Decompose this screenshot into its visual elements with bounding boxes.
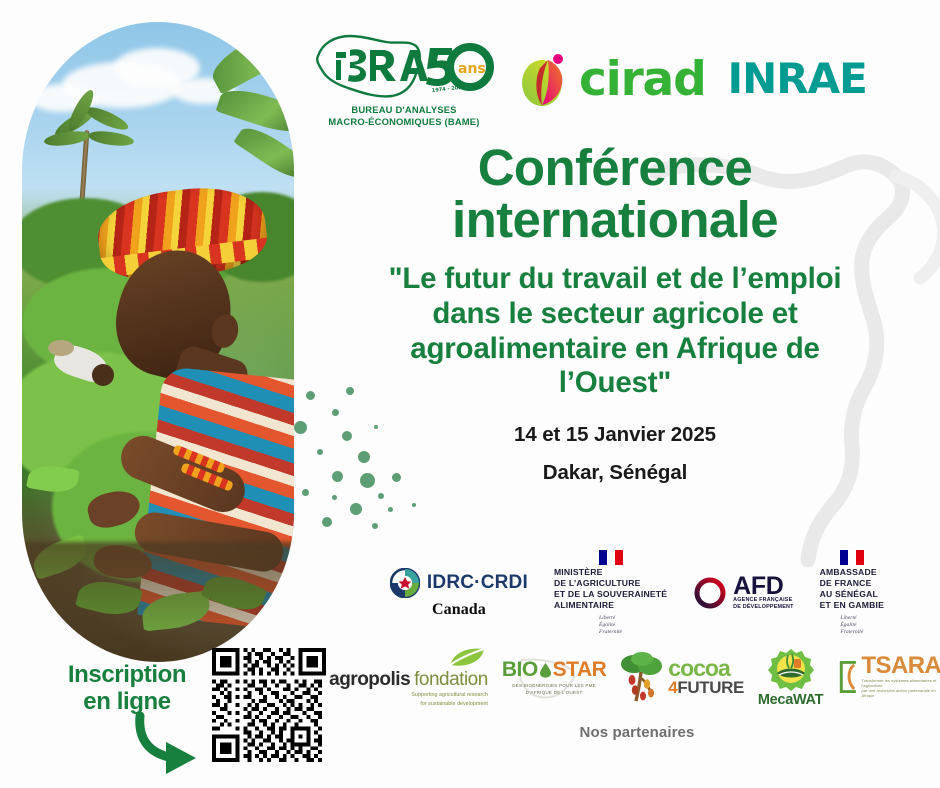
svg-text:ans: ans (458, 61, 486, 77)
ministere-line3: ET DE LA SOUVERAINETÉ (554, 589, 667, 600)
cirad-seed-icon (518, 50, 572, 108)
devise2-liberte: Liberté (840, 615, 863, 622)
tsara-bracket-icon (837, 657, 859, 697)
french-flag-icon-2 (840, 550, 864, 565)
partners-row-1: IDRC·CRDI Canada MINISTÈRE DE L’AGRICULT… (340, 552, 934, 634)
cirad-wordmark: cirad (579, 56, 706, 103)
cocoa-word3: FUTURE (677, 678, 744, 697)
registration-label: Inscription en ligne (34, 662, 220, 716)
afd-sub2: DE DÉVELOPPEMENT (733, 604, 793, 611)
isra-line2: MACRO-ÉCONOMIQUES (BAME) (328, 116, 479, 128)
subtitle-line-3: agroalimentaire en Afrique de (410, 332, 820, 365)
ambassade-devise: Liberté Égalité Fraternité (840, 615, 863, 637)
background-farmer (48, 334, 118, 386)
ambassade-line1: AMBASSADE (820, 567, 884, 578)
biostar-word2: STAR (553, 658, 607, 682)
cocoa-word2: 4 (668, 678, 677, 697)
logo-biostar: BIO STAR DES BIOÉNERGIES POUR LES PME D’… (502, 658, 606, 696)
curved-arrow-icon (130, 712, 222, 774)
event-date: 14 et 15 Janvier 2025 (300, 423, 930, 447)
hero-photo (22, 22, 294, 662)
partners-section: IDRC·CRDI Canada MINISTÈRE DE L’AGRICULT… (340, 552, 934, 741)
logo-afd: AFD AGENCE FRANÇAISE DE DÉVELOPPEMENT (693, 575, 793, 612)
registration-callout: Inscription en ligne (34, 662, 220, 716)
isra-subtitle: BUREAU D'ANALYSES MACRO-ÉCONOMIQUES (BAM… (328, 104, 479, 128)
afd-ring-icon (693, 576, 727, 610)
logo-inrae: INRAE (728, 58, 867, 100)
isra-mark-icon: ans 1974 - 2024 (312, 30, 496, 102)
headline-block: Conférence internationale "Le futur du t… (300, 142, 930, 485)
devise2-egalite: Égalité (840, 622, 863, 629)
subtitle-line-2: dans le secteur agricole et (432, 297, 797, 330)
ambassade-title: AMBASSADE DE FRANCE AU SÉNÉGAL ET EN GAM… (820, 567, 884, 611)
tsara-wordmark: TSARA (862, 655, 940, 678)
page-title: Conférence internationale (300, 142, 930, 246)
ministere-line4: ALIMENTAIRE (554, 600, 667, 611)
partners-heading: Nos partenaires (340, 724, 934, 741)
subtitle-line-4: l’Ouest" (559, 366, 671, 399)
logo-agropolis-fondation: agropolis fondation Supporting agricultu… (329, 646, 488, 708)
ministere-title: MINISTÈRE DE L’AGRICULTURE ET DE LA SOUV… (554, 567, 667, 611)
logo-cirad: cirad (518, 50, 706, 108)
ambassade-line3: AU SÉNÉGAL (820, 589, 884, 600)
ministere-line1: MINISTÈRE (554, 567, 667, 578)
agropolis-word2: fondation (414, 669, 488, 690)
idrc-emblem-icon (390, 568, 420, 598)
partners-row-2: agropolis fondation Supporting agricultu… (340, 640, 934, 714)
agropolis-sub2: for sustainable development (420, 701, 487, 708)
devise2-fraternite: Fraternité (840, 629, 863, 636)
devise-fraternite: Fraternité (599, 629, 622, 636)
logo-isra-bame: ans 1974 - 2024 BUREAU D'ANALYSES MACRO-… (312, 30, 496, 128)
tsara-sub2: par une recherche-action partenariale en… (862, 688, 940, 698)
logo-mecawat: MecaWAT (758, 647, 823, 708)
cocoa-word1: cocoa (668, 658, 744, 679)
tsara-sub1: Transformer les systèmes alimentaires et… (862, 678, 940, 688)
canada-wordmark: Canada (432, 601, 486, 619)
ministere-devise: Liberté Égalité Fraternité (599, 615, 622, 637)
logo-tsara: TSARA Transformer les systèmes alimentai… (837, 655, 940, 698)
agropolis-leaf-icon (448, 646, 488, 668)
isra-line1: BUREAU D'ANALYSES (328, 104, 479, 116)
agropolis-sub1: Supporting agricultural research (411, 692, 487, 699)
title-line-2: internationale (452, 191, 778, 248)
qr-code-inscription[interactable] (212, 648, 326, 762)
logo-ministere-agriculture: MINISTÈRE DE L’AGRICULTURE ET DE LA SOUV… (554, 550, 667, 637)
devise-egalite: Égalité (599, 622, 622, 629)
event-place: Dakar, Sénégal (300, 461, 930, 485)
ministere-line2: DE L’AGRICULTURE (554, 578, 667, 589)
french-flag-icon (599, 550, 623, 565)
title-line-1: Conférence (478, 139, 753, 196)
logo-cocoa4future: cocoa 4FUTURE (620, 652, 744, 702)
subtitle-line-1: "Le futur du travail et de l’emploi (389, 262, 842, 295)
biostar-word1: BIO (502, 658, 538, 682)
ambassade-line4: ET EN GAMBIE (820, 600, 884, 611)
ambassade-line2: DE FRANCE (820, 578, 884, 589)
devise-liberte: Liberté (599, 615, 622, 622)
registration-line1: Inscription (34, 662, 220, 689)
mecawat-gear-field-icon (766, 647, 816, 691)
logo-ambassade-france: AMBASSADE DE FRANCE AU SÉNÉGAL ET EN GAM… (820, 550, 884, 637)
header-logo-row: ans 1974 - 2024 BUREAU D'ANALYSES MACRO-… (312, 26, 922, 132)
subtitle: "Le futur du travail et de l’emploi dans… (300, 262, 930, 401)
cocoa-tree-icon (620, 652, 664, 702)
conference-poster: ans 1974 - 2024 BUREAU D'ANALYSES MACRO-… (0, 0, 940, 788)
mecawat-wordmark: MecaWAT (758, 692, 823, 708)
biostar-drop-icon (539, 662, 552, 678)
idrc-wordmark: IDRC·CRDI (427, 572, 528, 594)
afd-wordmark: AFD (733, 575, 793, 598)
agropolis-word1: agropolis (329, 669, 410, 691)
logo-idrc-crdi: IDRC·CRDI Canada (390, 568, 528, 619)
